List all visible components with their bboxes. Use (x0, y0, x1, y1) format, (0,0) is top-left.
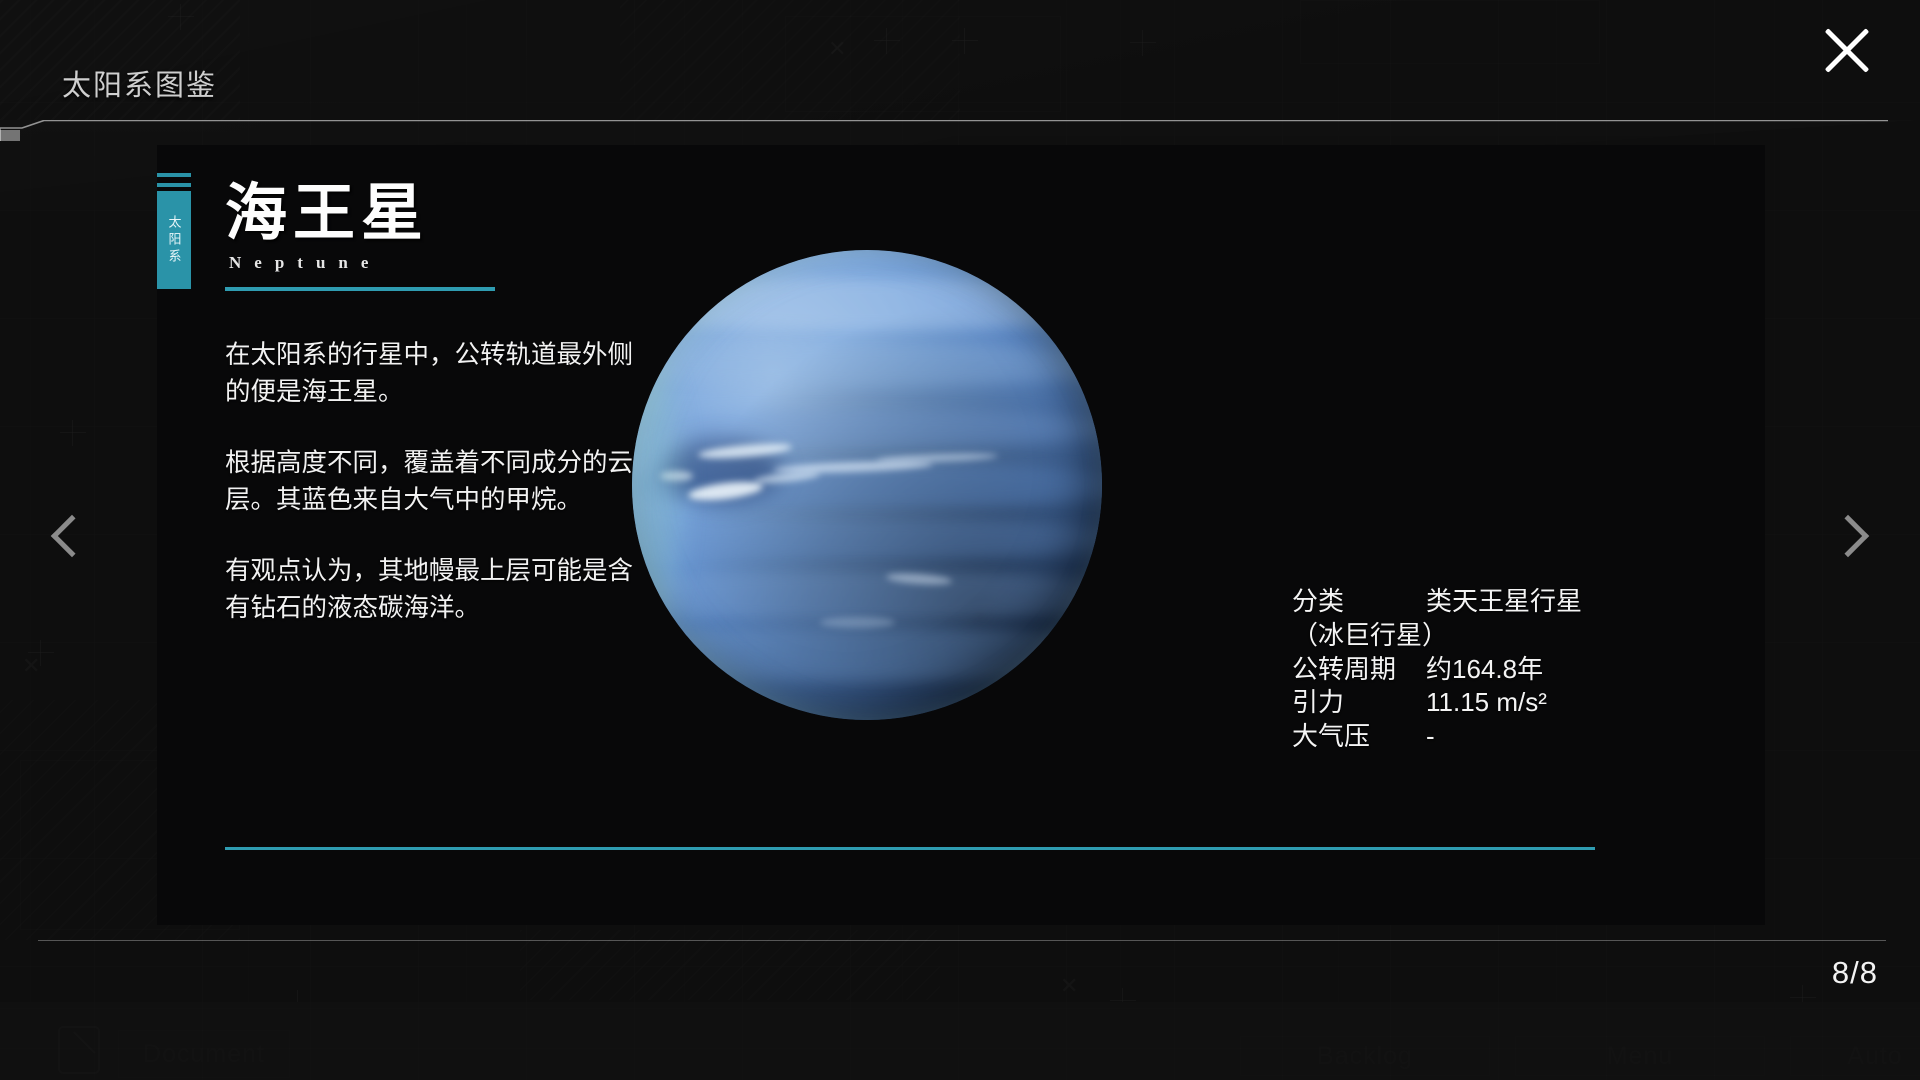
planet-image (617, 250, 1117, 750)
header-divider (0, 120, 1888, 142)
spec-value-continuation: （冰巨行星） (1292, 619, 1712, 653)
spec-value: - (1426, 720, 1712, 754)
title-accent-underline (225, 287, 495, 291)
description-paragraph: 根据高度不同，覆盖着不同成分的云层。其蓝色来自大气中的甲烷。 (225, 445, 645, 519)
spec-row: 分类 类天王星行星 (1292, 585, 1712, 619)
planet-info-card: 太阳系 海王星 Neptune 在太阳系的行星中，公转轨道最外侧的便是海王星。 … (157, 145, 1765, 925)
close-button[interactable] (1814, 17, 1880, 83)
category-tab: 太阳系 (157, 191, 191, 289)
page-indicator: 8/8 (1832, 955, 1878, 991)
spec-key: 大气压 (1292, 720, 1426, 754)
chevron-left-icon (51, 515, 93, 557)
spec-row: 引力 11.15 m/s² (1292, 686, 1712, 720)
planet-title-block: 太阳系 海王星 Neptune (157, 165, 487, 295)
category-tab-label: 太阳系 (168, 215, 181, 266)
tab-accent-line-bottom (157, 183, 191, 187)
spec-key: 公转周期 (1292, 653, 1426, 687)
spec-key: 引力 (1292, 686, 1426, 720)
spec-row: 公转周期 约164.8年 (1292, 653, 1712, 687)
spec-value: 类天王星行星 (1426, 585, 1712, 619)
description-paragraph: 有观点认为，其地幔最上层可能是含有钻石的液态碳海洋。 (225, 553, 645, 627)
card-accent-divider (225, 847, 1595, 850)
page-title: 太阳系图鉴 (62, 62, 217, 104)
sphere-shading (632, 250, 1102, 720)
neptune-sphere (632, 250, 1102, 720)
planet-description: 在太阳系的行星中，公转轨道最外侧的便是海王星。 根据高度不同，覆盖着不同成分的云… (225, 337, 645, 627)
spec-value: 11.15 m/s² (1426, 686, 1712, 720)
previous-page-button[interactable] (45, 515, 99, 569)
next-page-button[interactable] (1821, 515, 1875, 569)
planet-spec-table: 分类 类天王星行星 （冰巨行星） 公转周期 约164.8年 引力 11.15 m… (1292, 585, 1712, 754)
chevron-right-icon (1827, 515, 1869, 557)
footer-divider (38, 940, 1886, 941)
spec-key: 分类 (1292, 585, 1426, 619)
planet-name: 海王星 (225, 183, 429, 245)
spec-value: 约164.8年 (1426, 653, 1712, 687)
spec-row: 大气压 - (1292, 720, 1712, 754)
description-paragraph: 在太阳系的行星中，公转轨道最外侧的便是海王星。 (225, 337, 645, 411)
planet-name-english: Neptune (229, 253, 381, 273)
tab-accent-line-top (157, 173, 191, 177)
